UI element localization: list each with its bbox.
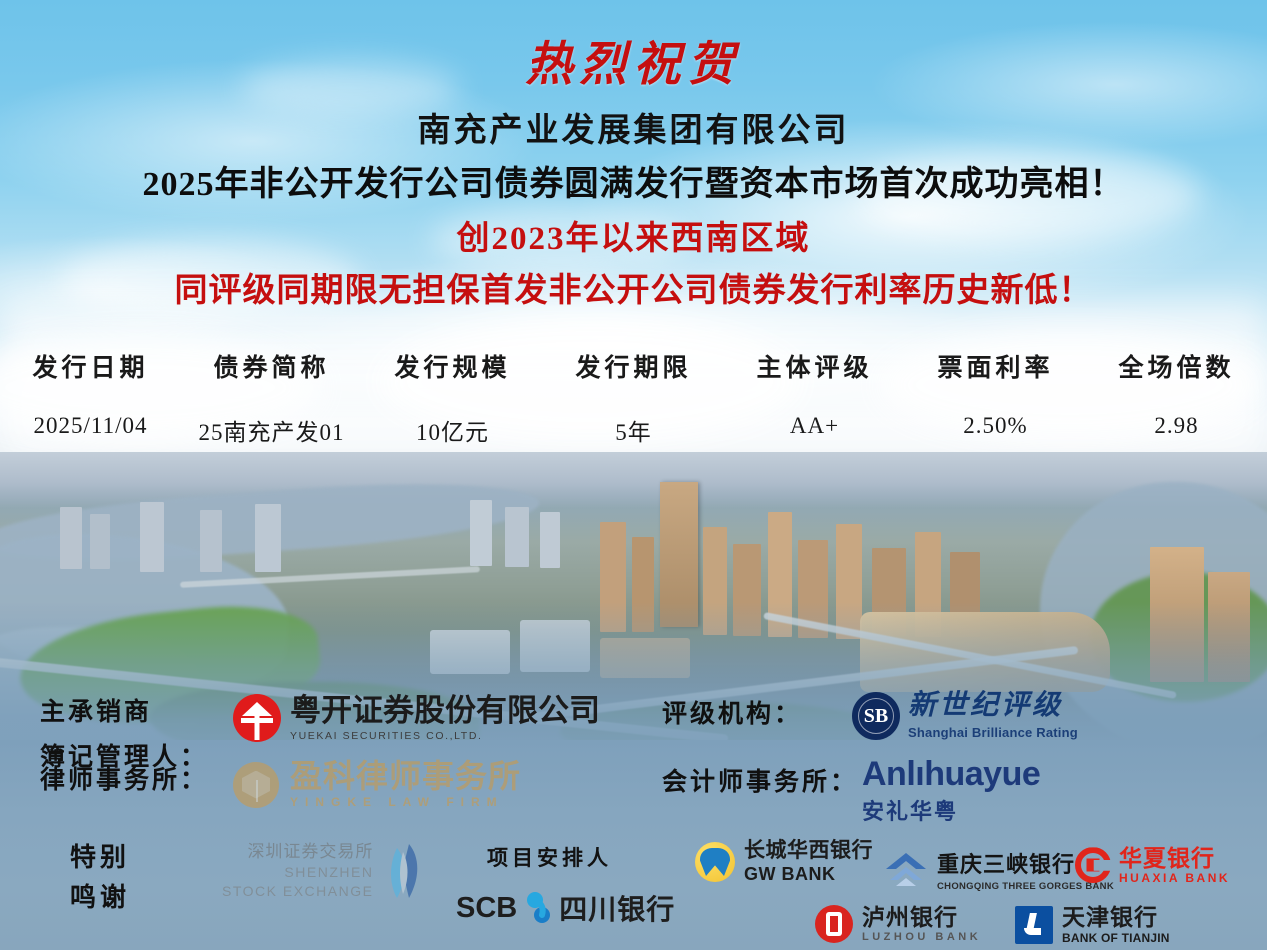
anlihuayue-logo: Anlıhuayue 安礼华粤 (862, 757, 1040, 826)
building-block (200, 510, 222, 572)
building-block (60, 507, 82, 569)
column-header-subscription: 全场倍数 (1086, 348, 1267, 386)
building-block (140, 502, 164, 572)
anlihuayue-name-en: Anlıhuayue (862, 757, 1040, 791)
brilliance-text-stack: 新世纪评级 Shanghai Brilliance Rating (908, 692, 1078, 740)
value-bond-name: 25南充产发01 (181, 413, 362, 447)
brilliance-name-cn: 新世纪评级 (908, 692, 1078, 720)
column-header-tenor: 发行期限 (543, 348, 724, 386)
yingke-name-en: YINGKE LAW FIRM (290, 795, 521, 809)
table-header-row: 发行日期 债券简称 发行规模 发行期限 主体评级 票面利率 全场倍数 (0, 348, 1267, 386)
building-block (540, 512, 560, 568)
headline-record-line-2: 同评级同期限无担保首发非公开公司债券发行利率历史新低！ (0, 273, 1267, 309)
headline-record-line-1: 创2023年以来西南区域 (0, 221, 1267, 257)
huaxia-name-cn: 华夏银行 (1119, 846, 1230, 870)
value-subscription: 2.98 (1086, 413, 1267, 447)
luzhou-bank-logo: 泸州银行 LUZHOU BANK (815, 905, 981, 944)
rating-agency-label: 评级机构： (662, 694, 802, 730)
yuekai-securities-logo: 粤开证券股份有限公司 YUEKAI SECURITIES CO.,LTD. (233, 694, 600, 742)
yuekai-name-cn: 粤开证券股份有限公司 (290, 695, 600, 726)
column-header-issue-date: 发行日期 (0, 348, 181, 386)
issuer-company-name: 南充产业发展集团有限公司 (0, 113, 1267, 149)
sichuan-bank-logo: SCB 四川银行 (456, 888, 675, 928)
szse-name-en-line2: STOCK EXCHANGE (222, 883, 373, 900)
gw-bank-name-en: GW BANK (744, 865, 873, 884)
value-issue-size: 10亿元 (362, 413, 543, 447)
column-header-issue-size: 发行规模 (362, 348, 543, 386)
anlihuayue-name-cn: 安礼华粤 (862, 794, 1040, 826)
shanghai-brilliance-rating-logo: SB 新世纪评级 Shanghai Brilliance Rating (852, 692, 1078, 740)
special-thanks-section: 特别 鸣谢 深圳证券交易所 SHENZHEN STOCK EXCHANGE 项目… (0, 820, 1267, 950)
three-gorges-icon (883, 851, 929, 887)
tianjin-text-stack: 天津银行 BANK OF TIANJIN (1062, 905, 1170, 945)
yingke-law-firm-logo: 盈科律师事务所 YINGKE LAW FIRM (233, 760, 521, 809)
underwriter-label: 主承销商 (40, 692, 208, 728)
headline-issuance-line: 2025年非公开发行公司债券圆满发行暨资本市场首次成功亮相！ (0, 166, 1267, 203)
headline-block: 热烈祝贺 南充产业发展集团有限公司 2025年非公开发行公司债券圆满发行暨资本市… (0, 0, 1267, 309)
tianjin-name-cn: 天津银行 (1062, 905, 1170, 929)
szse-text-stack: 深圳证券交易所 SHENZHEN STOCK EXCHANGE (222, 842, 373, 899)
luzhou-name-en: LUZHOU BANK (862, 932, 981, 944)
special-thanks-line2: 鸣谢 (70, 878, 130, 918)
szse-sail-icon (379, 842, 421, 900)
gw-bank-logo: 长城华西银行 GW BANK (695, 840, 873, 884)
building-block (470, 500, 492, 566)
shenzhen-stock-exchange-logo: 深圳证券交易所 SHENZHEN STOCK EXCHANGE (222, 842, 421, 900)
building-block (505, 507, 529, 567)
tianjin-name-en: BANK OF TIANJIN (1062, 932, 1170, 945)
yuekai-bar-icon (241, 718, 273, 723)
value-coupon-rate: 2.50% (905, 413, 1086, 447)
table-data-row: 2025/11/04 25南充产发01 10亿元 5年 AA+ 2.50% 2.… (0, 413, 1267, 447)
huaxia-name-en: HUAXIA BANK (1119, 872, 1230, 885)
column-header-bond-name: 债券简称 (181, 348, 362, 386)
scb-name-cn: 四川银行 (559, 888, 675, 928)
column-header-coupon-rate: 票面利率 (905, 348, 1086, 386)
brilliance-name-en: Shanghai Brilliance Rating (908, 725, 1078, 740)
huaxia-inner-mark (1087, 859, 1100, 872)
value-tenor: 5年 (543, 413, 724, 447)
huaxia-bank-logo: 华夏银行 HUAXIA BANK (1075, 846, 1230, 885)
yuekai-name-en: YUEKAI SECURITIES CO.,LTD. (290, 730, 600, 742)
value-issuer-rating: AA+ (724, 413, 905, 447)
szse-name-cn: 深圳证券交易所 (222, 842, 373, 862)
yingke-name-cn: 盈科律师事务所 (290, 760, 521, 792)
yuekai-text-stack: 粤开证券股份有限公司 YUEKAI SECURITIES CO.,LTD. (290, 695, 600, 742)
accounting-firm-label: 会计师事务所： (662, 762, 858, 798)
law-firm-label: 律师事务所： (40, 760, 208, 796)
special-thanks-label: 特别 鸣谢 (70, 838, 130, 919)
special-thanks-line1: 特别 (70, 838, 130, 878)
yuekai-mark-icon (233, 694, 281, 742)
building-block (255, 504, 281, 572)
brilliance-seal-icon: SB (852, 692, 900, 740)
scb-knot-icon (523, 891, 553, 925)
gw-bank-icon (695, 842, 735, 882)
celebration-poster: 热烈祝贺 南充产业发展集团有限公司 2025年非公开发行公司债券圆满发行暨资本市… (0, 0, 1267, 950)
bond-details-table: 发行日期 债券简称 发行规模 发行期限 主体评级 票面利率 全场倍数 2025/… (0, 348, 1267, 447)
building-block (90, 514, 110, 569)
luzhou-bank-icon (815, 905, 853, 943)
brilliance-monogram: SB (864, 706, 888, 726)
scb-abbreviation: SCB (456, 892, 517, 925)
gw-bank-name-cn: 长城华西银行 (744, 840, 873, 862)
congratulations-title: 热烈祝贺 (0, 42, 1267, 89)
luzhou-name-cn: 泸州银行 (862, 905, 981, 929)
luzhou-text-stack: 泸州银行 LUZHOU BANK (862, 905, 981, 944)
arranger-label: 项目安排人 (487, 842, 612, 872)
huaxia-bank-icon (1075, 847, 1111, 883)
gw-bank-text-stack: 长城华西银行 GW BANK (744, 840, 873, 884)
tianjin-bank-icon (1015, 906, 1053, 944)
huaxia-text-stack: 华夏银行 HUAXIA BANK (1119, 846, 1230, 885)
value-issue-date: 2025/11/04 (0, 413, 181, 447)
szse-name-en-line1: SHENZHEN (222, 864, 373, 881)
bank-of-tianjin-logo: 天津银行 BANK OF TIANJIN (1015, 905, 1170, 945)
column-header-issuer-rating: 主体评级 (724, 348, 905, 386)
yingke-text-stack: 盈科律师事务所 YINGKE LAW FIRM (290, 760, 521, 809)
yingke-cube-icon (233, 762, 279, 808)
